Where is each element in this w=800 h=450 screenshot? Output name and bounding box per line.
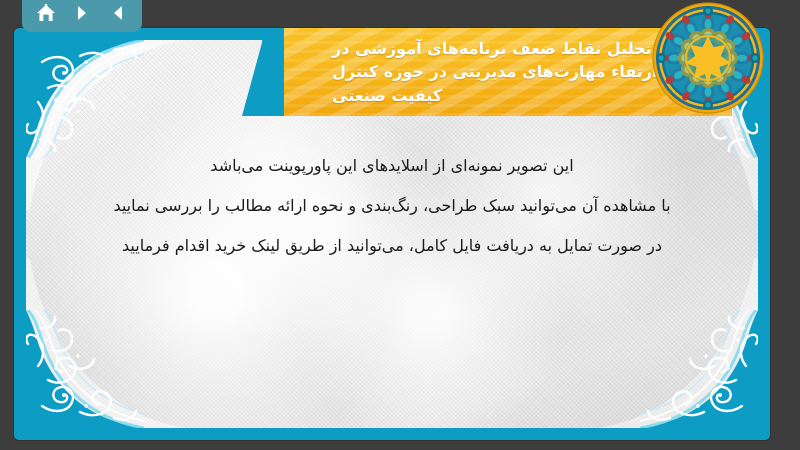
navigation-bar xyxy=(22,0,142,32)
islamic-medallion-ornament xyxy=(652,2,764,114)
body-line-2: با مشاهده آن می‌توانید سبک طراحی، رنگ‌بن… xyxy=(54,186,730,226)
body-line-1: این تصویر نمونه‌ای از اسلایدهای این پاور… xyxy=(54,146,730,186)
title-line-1: تحلیل نقاط ضعف برنامه‌های آموزشی در xyxy=(332,37,652,60)
slide-body: این تصویر نمونه‌ای از اسلایدهای این پاور… xyxy=(54,146,730,266)
title-line-3: کیفیت صنعتی xyxy=(332,84,442,107)
home-icon xyxy=(35,3,57,23)
back-button[interactable] xyxy=(105,0,131,26)
slide-viewer: این تصویر نمونه‌ای از اسلایدهای این پاور… xyxy=(0,0,800,450)
triangle-right-icon xyxy=(72,3,92,23)
forward-button[interactable] xyxy=(69,0,95,26)
home-button[interactable] xyxy=(33,0,59,26)
title-line-2: ارتقاء مهارت‌های مدیریتی در حوزه کنترل xyxy=(332,60,657,83)
triangle-left-icon xyxy=(108,3,128,23)
body-line-3: در صورت تمایل به دریافت فایل کامل، می‌تو… xyxy=(54,226,730,266)
